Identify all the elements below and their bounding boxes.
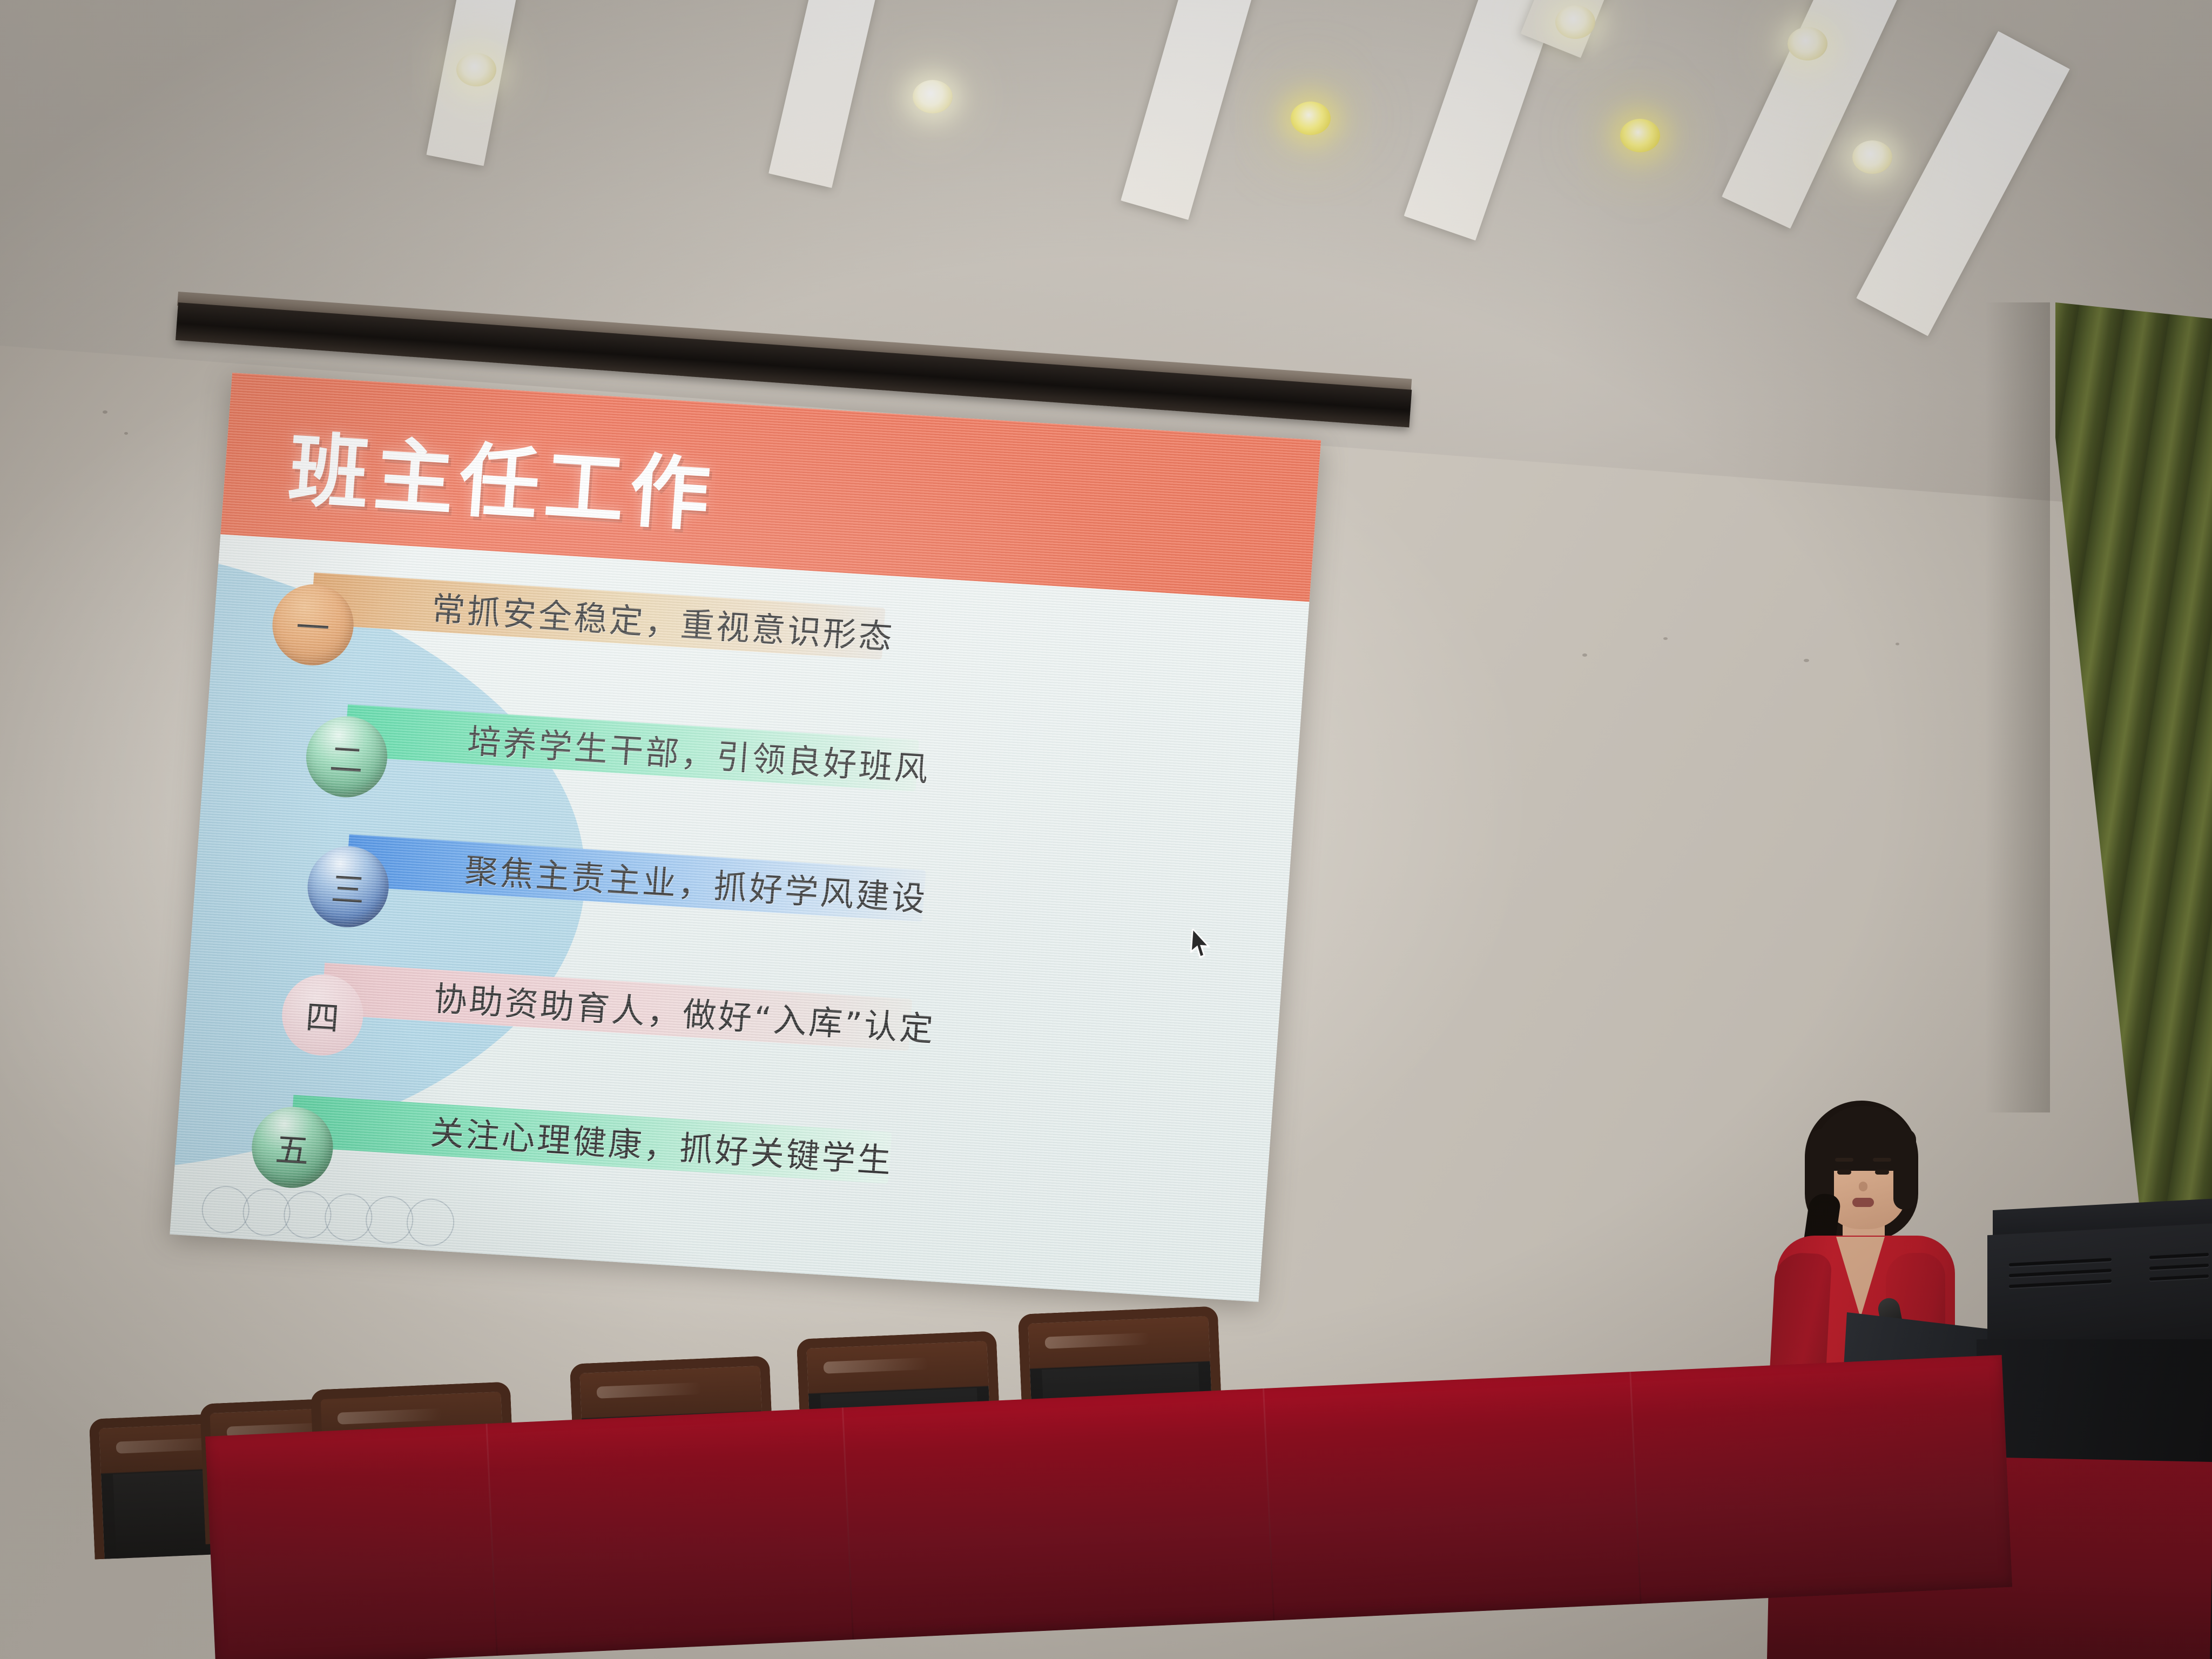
lectern-vent [2149,1253,2209,1259]
lectern-vent [2149,1264,2209,1270]
downlight-4 [1620,119,1660,152]
downlight-2 [913,80,953,113]
projected-slide: 班主任工作 常抓安全稳定，重视意识形态 一 培养学生干部，引领良好班风 二 [170,373,1321,1302]
wall-mark [1582,653,1587,657]
downlight-1 [456,53,496,86]
wall-mark [1663,637,1668,640]
item-text-3: 聚焦主责主业，抓好学风建设 [463,844,929,921]
lectern-vent [2149,1274,2209,1281]
item-text-5: 关注心理健康，抓好关键学生 [429,1105,895,1182]
eyebrow-right [1873,1158,1891,1162]
list-item: 协助资助育人，做好“入库”认定 四 [188,980,1277,1048]
list-item: 聚焦主责主业，抓好学风建设 三 [198,851,1286,919]
wall-mark [1804,659,1809,662]
list-item: 关注心理健康，抓好关键学生 五 [178,1114,1267,1181]
wall-mark [1896,643,1899,645]
slide-item-list: 常抓安全稳定，重视意识形态 一 培养学生干部，引领良好班风 二 聚焦主责主业，抓… [170,534,1309,1302]
downlight-3 [1291,102,1331,135]
list-item: 培养学生干部，引领良好班风 二 [207,721,1296,789]
downlight-5 [1555,5,1595,39]
lectern-vent [2009,1269,2112,1277]
item-bar-4: 协助资助育人，做好“入库”认定 [321,963,912,1051]
curtain-shadow [1985,302,2050,1112]
eye-left [1837,1170,1851,1175]
eyebrow-left [1835,1158,1853,1162]
lectern-vent [2009,1258,2112,1266]
item-bar-5: 关注心理健康，抓好关键学生 [290,1095,892,1184]
presentation-room-photo: 班主任工作 常抓安全稳定，重视意识形态 一 培养学生干部，引领良好班风 二 [0,0,2212,1659]
item-text-2: 培养学生干部，引领良好班风 [466,713,932,791]
item-text-4: 协助资助育人，做好“入库”认定 [432,971,937,1050]
eye-right [1875,1170,1889,1175]
item-bar-3: 聚焦主责主业，抓好学风建设 [346,834,926,922]
wall-mark [124,432,128,435]
mouth [1852,1198,1874,1207]
item-bar-2: 培养学生干部，引领良好班风 [344,704,919,791]
item-bar-1: 常抓安全稳定，重视意识形态 [311,572,886,659]
nose [1859,1182,1867,1191]
lectern-vent [2009,1279,2112,1288]
list-item: 常抓安全稳定，重视意识形态 一 [216,592,1305,660]
hair-side-right [1893,1129,1916,1210]
downlight-6 [1788,27,1827,60]
item-text-1: 常抓安全稳定，重视意识形态 [430,582,896,659]
downlight-7 [1852,140,1892,174]
wall-mark [103,410,107,414]
